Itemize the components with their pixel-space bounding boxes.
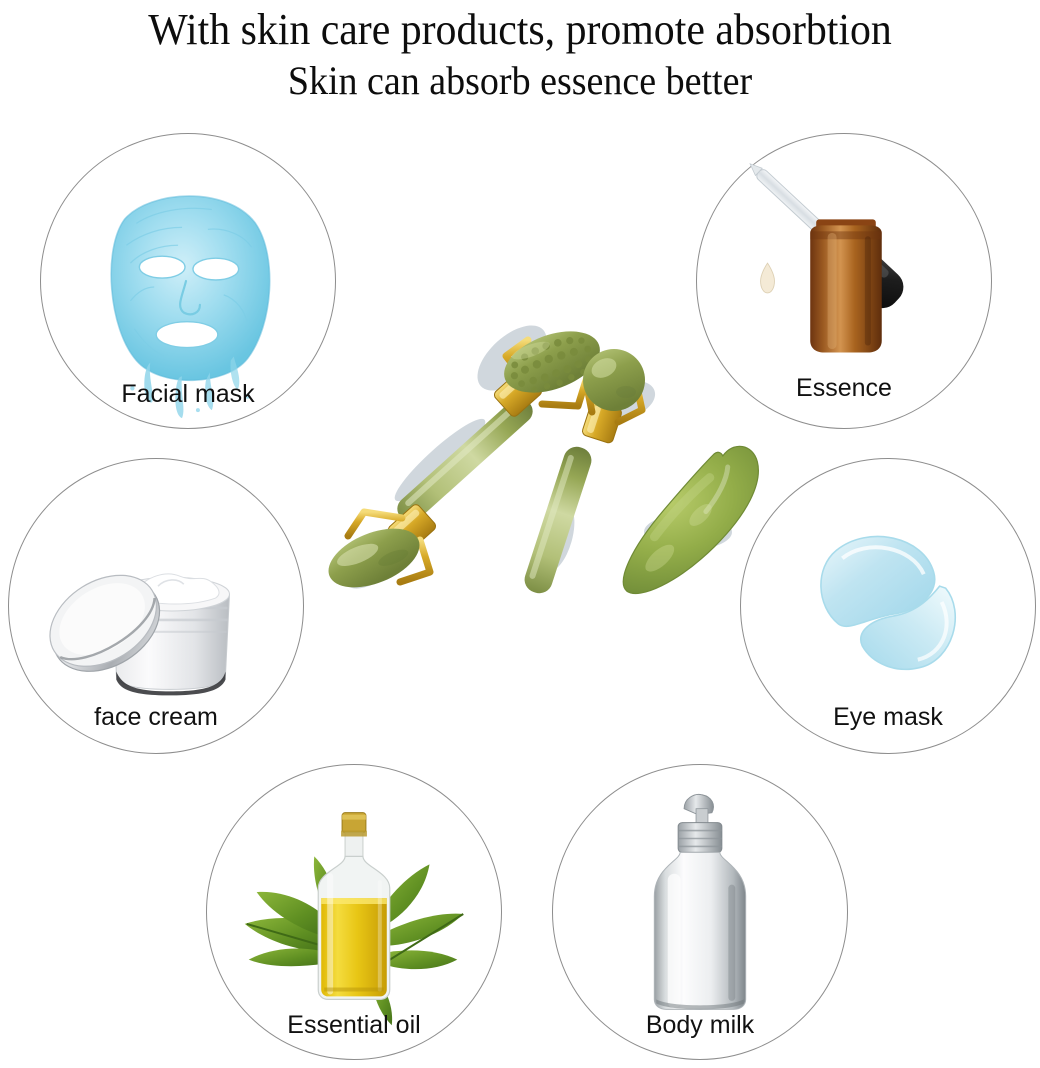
gua-sha-heart-stone-icon: [598, 443, 760, 597]
headline-block: With skin care products, promote absorbt…: [0, 4, 1040, 106]
jade-tools-group: [290, 270, 760, 600]
product-label-face-cream: face cream: [9, 703, 303, 732]
jade-tools-illustration: [290, 270, 760, 600]
product-circle-eye-mask[interactable]: Eye mask: [740, 458, 1036, 754]
leaf-left: [245, 856, 337, 966]
product-label-eye-mask: Eye mask: [741, 703, 1035, 732]
infographic-canvas: With skin care products, promote absorbt…: [0, 0, 1040, 1068]
leaf-right: [372, 864, 463, 1025]
headline-line-2: Skin can absorb essence better: [26, 56, 1014, 106]
product-circle-essential-oil[interactable]: Essential oil: [206, 764, 502, 1060]
product-circle-body-milk[interactable]: Body milk: [552, 764, 848, 1060]
product-label-body-milk: Body milk: [553, 1011, 847, 1040]
product-label-essential-oil: Essential oil: [207, 1011, 501, 1040]
product-circle-face-cream[interactable]: face cream: [8, 458, 304, 754]
headline-line-1: With skin care products, promote absorbt…: [26, 4, 1014, 56]
